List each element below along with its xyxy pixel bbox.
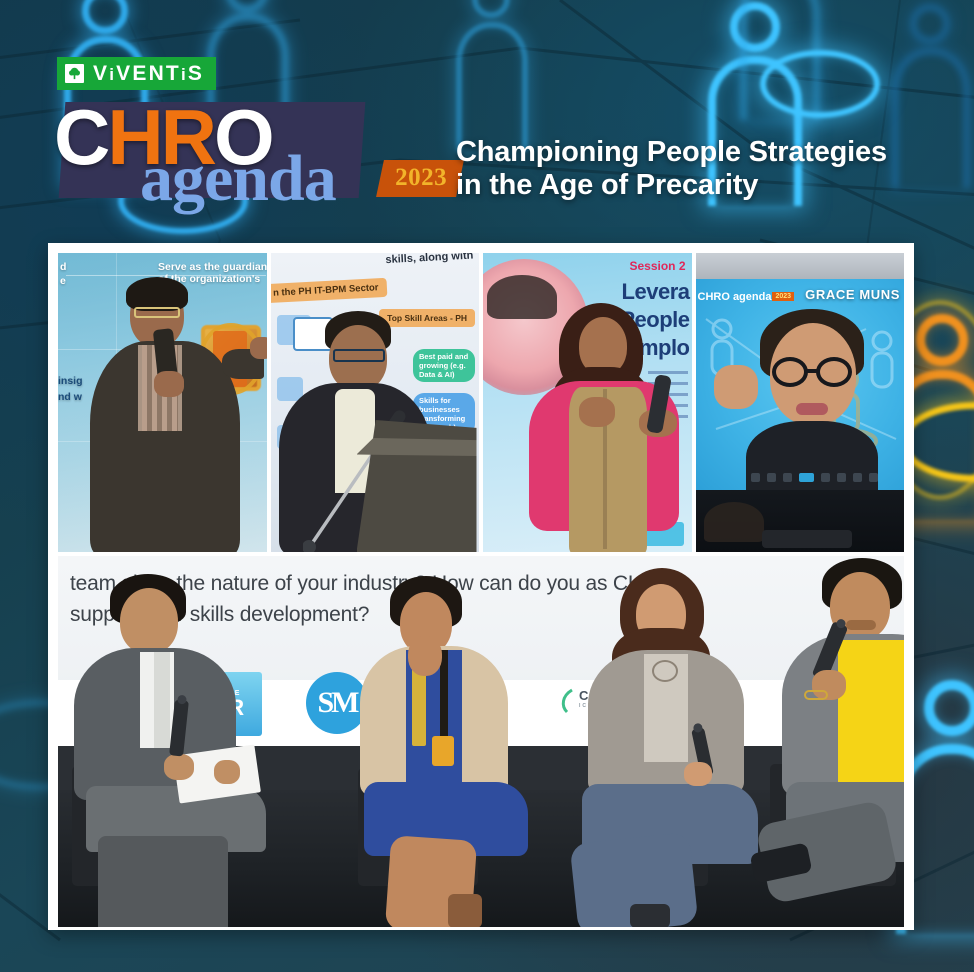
video-call-toolbar[interactable] <box>750 470 879 484</box>
tree-icon <box>65 64 84 83</box>
slide-session-label: Session 2 <box>629 259 685 273</box>
slide-text-fragment: d <box>60 261 82 273</box>
year-tag: 2023 <box>376 160 464 197</box>
photo-podium-speaker: skills, along with n the PH IT-BPM Secto… <box>271 253 480 552</box>
person-silhouette <box>82 275 262 552</box>
slide-text-fragment: nd w <box>58 391 82 403</box>
slide-text-fragment: e <box>60 275 66 287</box>
screen-event-logo-text: CHRO agenda <box>698 291 772 303</box>
screen-speaker-name: GRACE MUNS <box>805 287 900 302</box>
panelist-moderator <box>68 574 278 924</box>
year-label: 2023 <box>395 164 447 192</box>
person-silhouette <box>523 303 692 552</box>
toolbar-icon[interactable] <box>821 473 830 482</box>
toolbar-icon[interactable] <box>869 473 878 482</box>
photo-collage: d e Serve as the guardian of the organiz… <box>48 243 914 930</box>
headline-line-2: in the Age of Precarity <box>456 169 926 202</box>
slide-text-fragment: insig <box>58 375 83 387</box>
toolbar-icon[interactable] <box>751 473 760 482</box>
photo-panel-discussion: team given the nature of your industry? … <box>58 556 904 927</box>
headline-line-1: Championing People Strategies <box>456 136 926 169</box>
toolbar-icon[interactable] <box>837 473 846 482</box>
panelist-two <box>350 576 540 924</box>
panelist-four <box>776 558 904 924</box>
agenda-wordmark: agenda <box>140 146 336 212</box>
chro-letter-c: C <box>54 93 107 181</box>
photo-speaker-suit: d e Serve as the guardian of the organiz… <box>58 253 267 552</box>
slide-text-line-1: Serve as the guardian <box>158 261 267 273</box>
page-title: Championing People Strategies in the Age… <box>456 136 926 202</box>
screen-event-logo: CHRO agenda2023 <box>698 291 795 303</box>
poster-canvas: ViVENTiS CHRO agenda 2023 Championing Pe… <box>0 0 974 972</box>
toolbar-icon-active[interactable] <box>799 473 814 482</box>
photo-virtual-speaker: GRACE MUNS CHRO agenda2023 <box>696 253 905 552</box>
photo-row: d e Serve as the guardian of the organiz… <box>58 253 904 552</box>
panelist-three <box>582 568 772 926</box>
slide-line-1: Levera <box>622 279 690 304</box>
screen-event-logo-year: 2023 <box>772 292 794 301</box>
viventis-wordmark: ViVENTiS <box>93 62 204 86</box>
toolbar-icon[interactable] <box>853 473 862 482</box>
photo-woman-pink: Session 2 Levera People Emplo <box>483 253 692 552</box>
poster-header: ViVENTiS CHRO agenda 2023 Championing Pe… <box>0 0 974 236</box>
toolbar-icon[interactable] <box>767 473 776 482</box>
chro-agenda-logo: CHRO agenda 2023 <box>52 98 452 208</box>
toolbar-icon[interactable] <box>783 473 792 482</box>
viventis-logo: ViVENTiS <box>57 57 216 90</box>
